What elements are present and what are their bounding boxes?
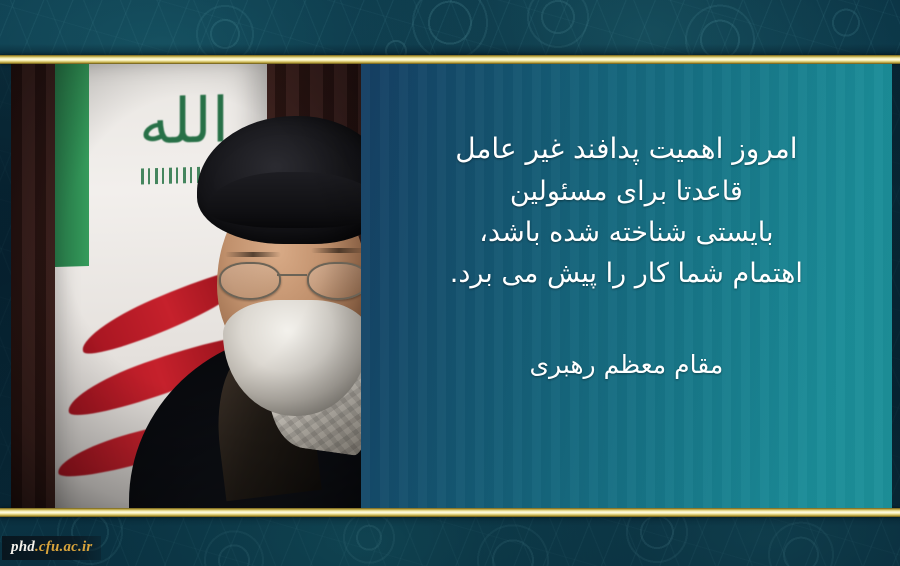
quote-line-4: اهتمام شما کار را پیش می برد. <box>389 253 864 294</box>
portrait-photo: الله <box>11 64 361 508</box>
quote-attribution: مقام معظم رهبری <box>389 350 864 379</box>
quote-line-2: قاعدتا برای مسئولین <box>389 171 864 212</box>
quote-line-1: امروز اهمیت پدافند غیر عامل <box>389 128 864 171</box>
content-row: الله امروز ا <box>8 64 892 508</box>
eyeglasses-icon <box>219 260 361 298</box>
eyeglass-lens <box>307 262 361 300</box>
subject-brow <box>311 248 361 253</box>
quote-banner: الله امروز ا <box>0 0 900 566</box>
gold-divider-top <box>0 55 900 64</box>
quote-text-block: امروز اهمیت پدافند غیر عامل قاعدتا برای … <box>389 128 864 294</box>
eyeglass-lens <box>219 262 281 300</box>
site-watermark[interactable]: phd.cfu.ac.ir <box>2 536 101 560</box>
flag-green-band <box>55 64 89 267</box>
gold-divider-bottom <box>0 508 900 517</box>
eyeglass-bridge <box>277 274 307 276</box>
watermark-domain: .cfu.ac.ir <box>35 539 92 555</box>
quote-line-3: بایستی شناخته شده باشد، <box>389 212 864 253</box>
watermark-prefix: phd <box>11 539 35 555</box>
quote-panel: امروز اهمیت پدافند غیر عامل قاعدتا برای … <box>361 64 892 508</box>
subject-brow <box>225 252 281 257</box>
